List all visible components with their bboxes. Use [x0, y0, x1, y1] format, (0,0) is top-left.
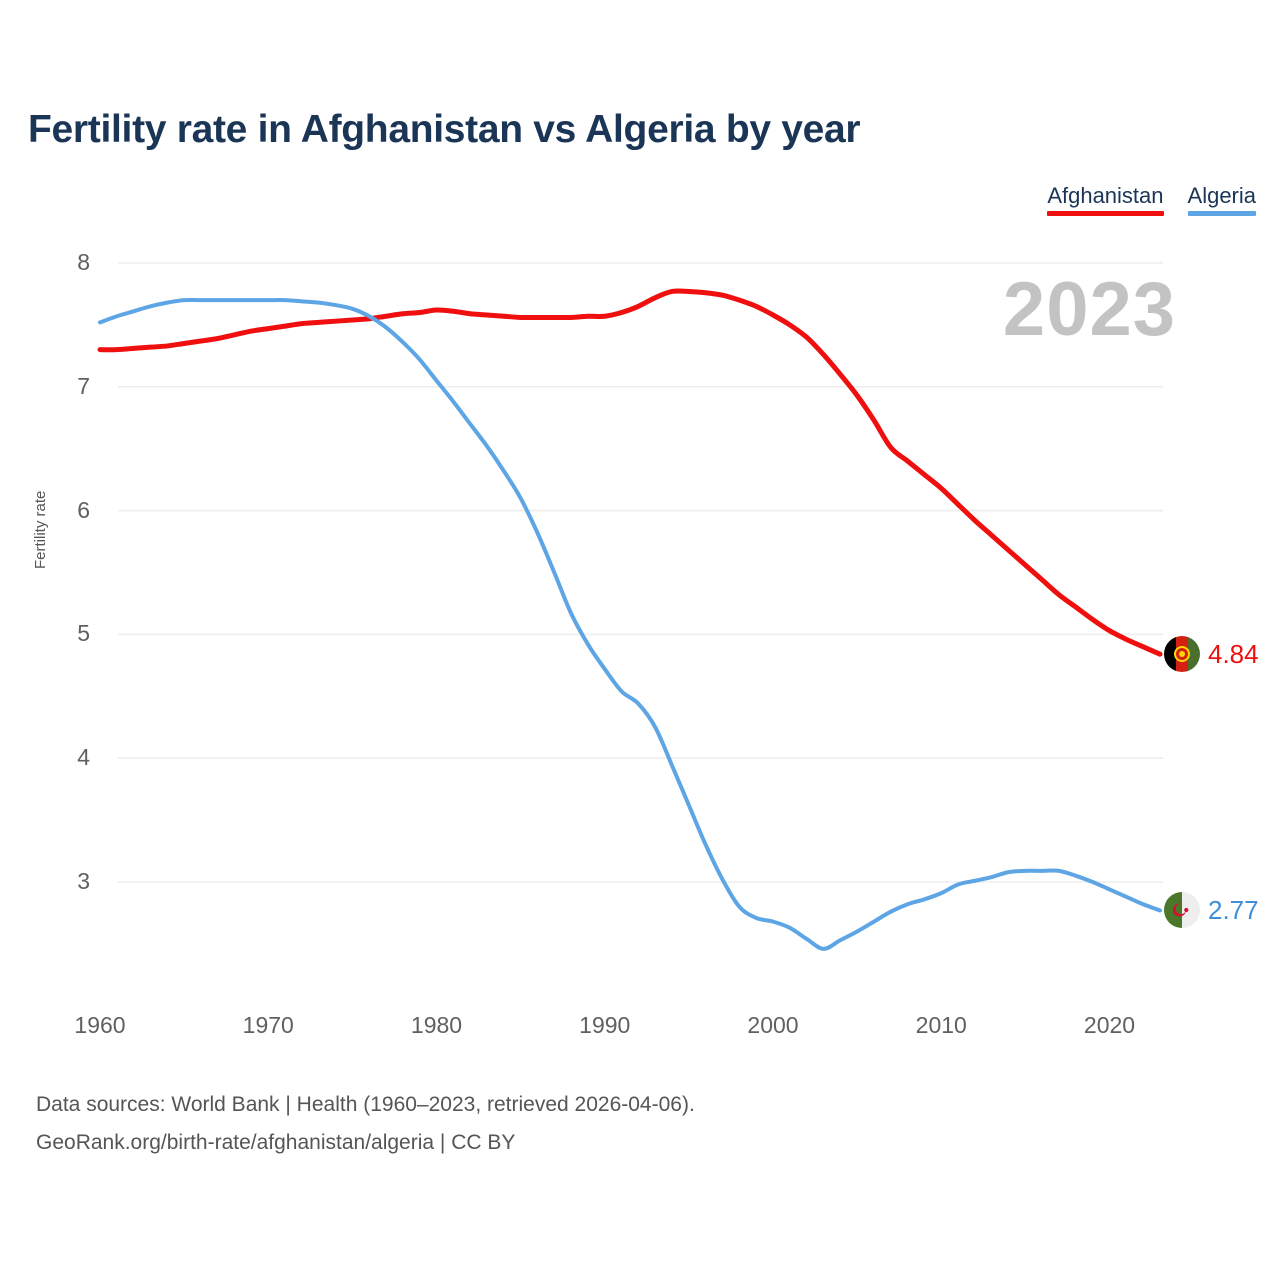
algeria-flag-icon — [1164, 892, 1200, 928]
chart-page: Fertility rate in Afghanistan vs Algeria… — [0, 0, 1280, 1280]
series-lines — [100, 291, 1160, 949]
endpoint-algeria[interactable]: 2.77 — [1164, 892, 1259, 928]
footer: Data sources: World Bank | Health (1960–… — [36, 1086, 695, 1162]
x-tick-label: 2020 — [1065, 1012, 1155, 1038]
gridlines — [118, 263, 1163, 882]
y-tick-label: 8 — [50, 251, 90, 274]
y-tick-label: 4 — [50, 746, 90, 769]
endpoint-afghanistan[interactable]: 4.84 — [1164, 636, 1259, 672]
x-tick-label: 1960 — [55, 1012, 145, 1038]
endpoint-value-algeria: 2.77 — [1208, 897, 1259, 923]
y-tick-label: 6 — [50, 499, 90, 522]
x-tick-label: 1990 — [560, 1012, 650, 1038]
x-tick-label: 1980 — [392, 1012, 482, 1038]
footer-line-attribution: GeoRank.org/birth-rate/afghanistan/alger… — [36, 1124, 695, 1162]
footer-line-sources: Data sources: World Bank | Health (1960–… — [36, 1086, 695, 1124]
x-tick-label: 1970 — [223, 1012, 313, 1038]
y-tick-label: 3 — [50, 870, 90, 893]
y-tick-label: 7 — [50, 375, 90, 398]
endpoint-value-afghanistan: 4.84 — [1208, 641, 1259, 667]
y-tick-label: 5 — [50, 622, 90, 645]
x-tick-label: 2010 — [896, 1012, 986, 1038]
series-line-algeria — [100, 300, 1160, 949]
afghanistan-flag-icon — [1164, 636, 1200, 672]
x-tick-label: 2000 — [728, 1012, 818, 1038]
series-line-afghanistan — [100, 291, 1160, 654]
